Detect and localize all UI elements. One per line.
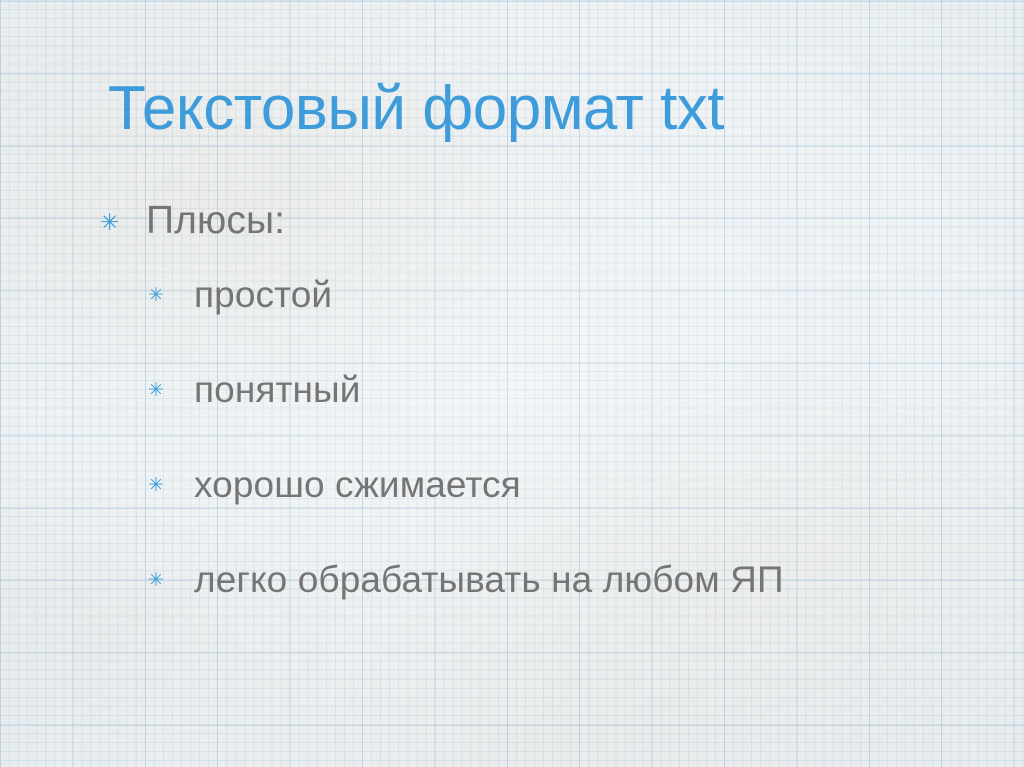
- asterisk-bullet-icon: ✳: [148, 270, 194, 305]
- bullet-text: легко обрабатывать на любом ЯП: [194, 555, 784, 605]
- bullet-item-ponyatnyy: ✳ понятный: [0, 365, 1024, 460]
- bullet-item-horosho-szhimaetsya: ✳ хорошо сжимается: [0, 460, 1024, 555]
- slide-title: Текстовый формат txt: [108, 76, 958, 141]
- presentation-slide: Текстовый формат txt ✳ Плюсы: ✳ простой …: [0, 0, 1024, 767]
- bullet-item-prostoy: ✳ простой: [0, 270, 1024, 365]
- slide-content: Текстовый формат txt ✳ Плюсы: ✳ простой …: [0, 0, 1024, 767]
- asterisk-bullet-icon: ✳: [148, 365, 194, 400]
- bullet-list: ✳ Плюсы: ✳ простой ✳ понятный ✳ хорошо с…: [0, 196, 1024, 650]
- asterisk-bullet-icon: ✳: [100, 196, 146, 234]
- bullet-text: хорошо сжимается: [194, 460, 521, 510]
- bullet-item-legko-obrabatyvat: ✳ легко обрабатывать на любом ЯП: [0, 555, 1024, 650]
- bullet-item-plusy: ✳ Плюсы:: [0, 196, 1024, 270]
- asterisk-bullet-icon: ✳: [148, 555, 194, 590]
- bullet-text: Плюсы:: [146, 196, 285, 246]
- bullet-text: понятный: [194, 365, 361, 415]
- bullet-text: простой: [194, 270, 332, 320]
- asterisk-bullet-icon: ✳: [148, 460, 194, 495]
